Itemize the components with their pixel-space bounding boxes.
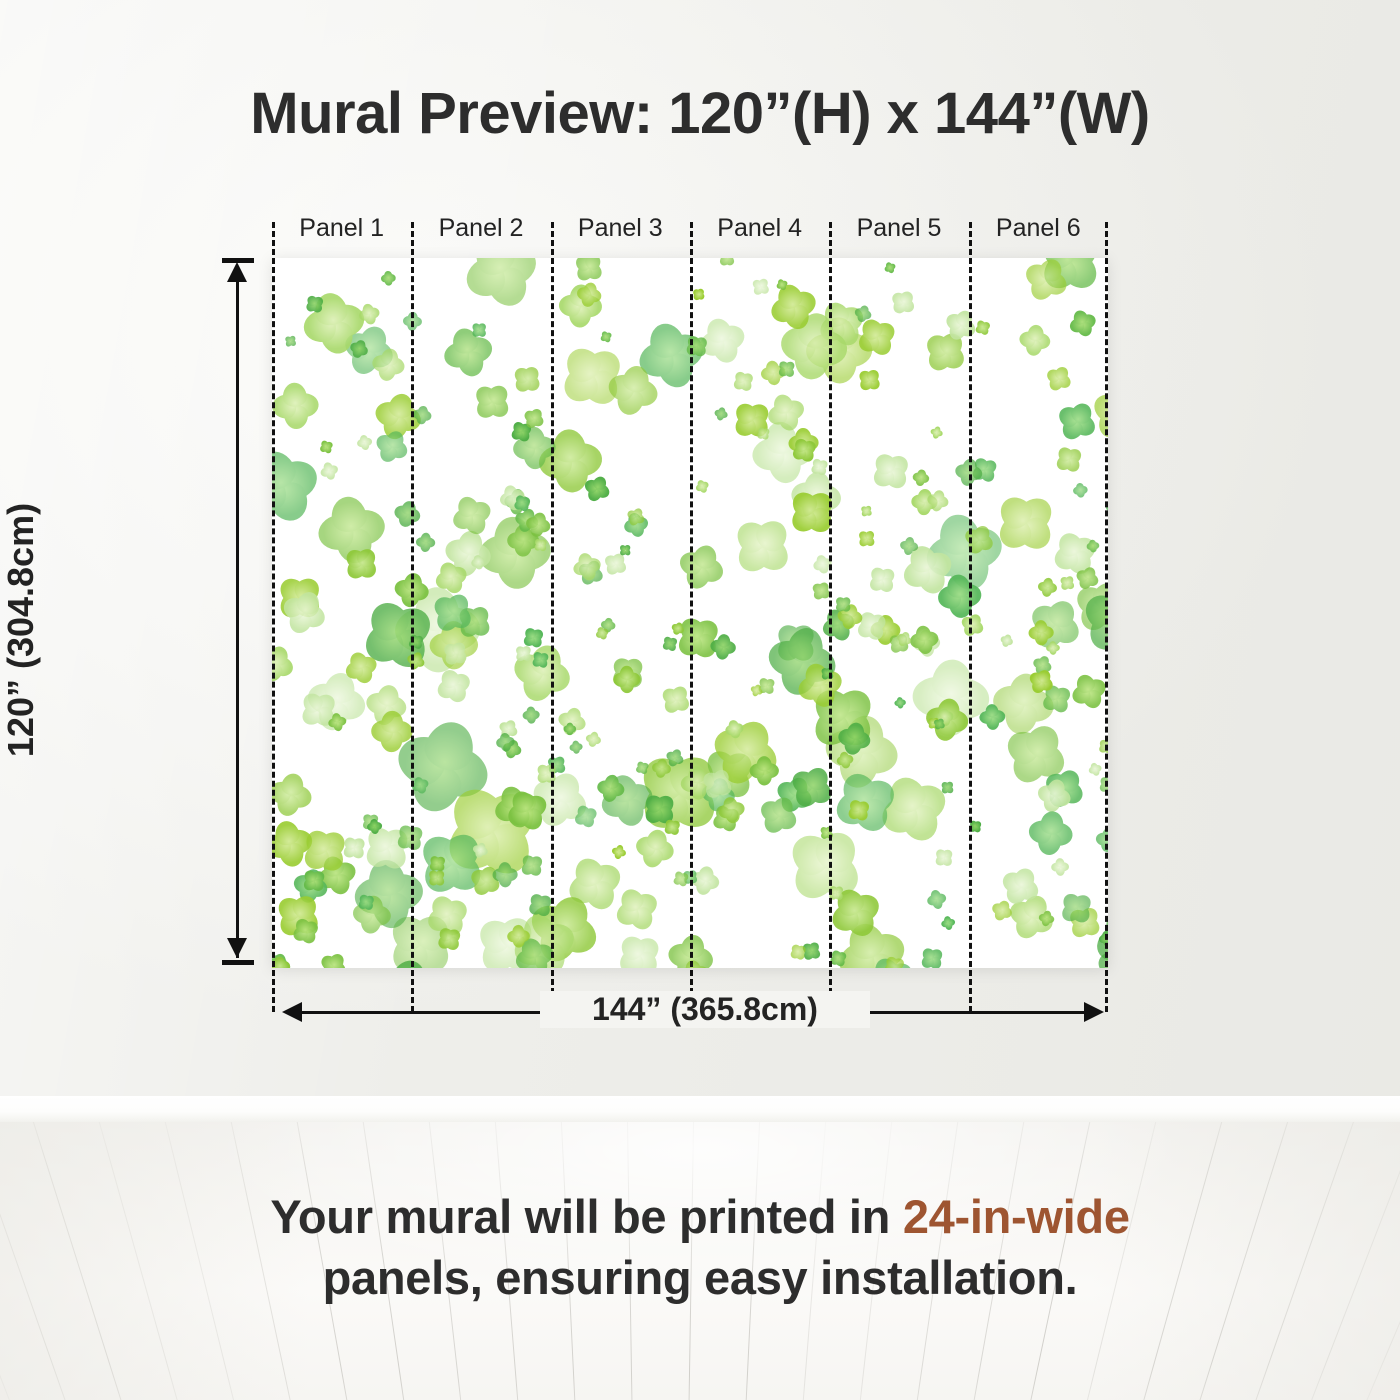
baseboard (0, 1096, 1400, 1123)
clover-motif (535, 762, 558, 785)
clover-motif (663, 817, 683, 837)
clover-motif (412, 528, 440, 556)
panel-divider (411, 222, 414, 1012)
clover-petal (605, 618, 613, 626)
clover-motif (860, 504, 873, 517)
clover-motif (272, 371, 330, 439)
clover-motif (433, 317, 503, 387)
clover-motif (683, 333, 709, 359)
height-arrow-head-bottom (227, 938, 247, 958)
height-dimension-label: 120” (304.8cm) (0, 430, 42, 830)
clover-motif (846, 796, 873, 823)
panel-divider (272, 222, 275, 1012)
width-arrow-head-right (1084, 1002, 1104, 1022)
clover-motif (919, 944, 946, 968)
panel-label-5: Panel 5 (829, 214, 968, 243)
clover-petal (652, 967, 665, 968)
clover-motif (301, 867, 328, 894)
clover-motif (658, 682, 693, 717)
clover-motif (941, 780, 956, 795)
clover-motif (751, 276, 772, 297)
clover-motif (732, 514, 796, 578)
clover-motif (318, 437, 335, 454)
clover-motif (272, 763, 322, 824)
clover-motif (1065, 305, 1102, 342)
clover-motif (934, 847, 955, 868)
clover-petal (383, 270, 392, 279)
clover-petal (1076, 482, 1085, 491)
panel-label-4: Panel 4 (690, 214, 829, 243)
clover-petal (1034, 620, 1047, 633)
panel-label-2: Panel 2 (411, 214, 550, 243)
clover-motif (835, 596, 853, 614)
clover-motif (719, 258, 737, 268)
clover-motif (1019, 801, 1083, 865)
clover-motif (1053, 442, 1086, 475)
clover-motif (442, 639, 471, 668)
clover-motif (776, 358, 797, 379)
clover-motif (583, 728, 605, 750)
height-arrow-line (236, 268, 239, 958)
clover-motif (619, 543, 633, 557)
clover-motif (789, 942, 808, 961)
clover-motif (756, 425, 772, 441)
clover-motif (595, 625, 612, 642)
clover-petal (1050, 640, 1057, 647)
clover-petal (498, 862, 511, 875)
clover-motif (341, 834, 369, 862)
clover-motif (672, 535, 733, 596)
mural-preview-scene: Mural Preview: 120”(H) x 144”(W) Panel 1… (0, 0, 1400, 1400)
clover-motif (427, 853, 447, 873)
width-dimension-label: 144” (365.8cm) (540, 991, 870, 1028)
clover-motif (285, 334, 299, 348)
clover-motif (1013, 317, 1058, 362)
clover-motif (304, 293, 325, 314)
clover-motif (889, 288, 918, 317)
clover-petal (500, 732, 511, 743)
clover-motif (512, 363, 545, 396)
clover-motif (474, 381, 514, 421)
caption-line2: panels, ensuring easy installation. (0, 1247, 1400, 1308)
clover-petal (381, 710, 403, 732)
clover-motif (599, 329, 614, 344)
page-title: Mural Preview: 120”(H) x 144”(W) (0, 80, 1400, 147)
clover-motif (1058, 889, 1095, 926)
clover-motif (568, 737, 587, 756)
clover-motif (713, 405, 732, 424)
clover-petal (418, 405, 429, 416)
clover-motif (866, 563, 899, 596)
clover-motif (357, 892, 377, 912)
clover-motif (731, 368, 756, 393)
clover-motif (289, 914, 322, 947)
clover-petal (600, 967, 625, 968)
panel-divider (829, 222, 832, 1012)
mural-area[interactable]: Panel 1Panel 2Panel 3Panel 4Panel 5Panel… (272, 258, 1108, 968)
clover-motif (393, 821, 426, 854)
clover-motif (820, 665, 835, 680)
caption: Your mural will be printed in 24-in-wide… (0, 1186, 1400, 1308)
clover-motif (317, 950, 349, 968)
clover-motif (272, 639, 302, 689)
clover-motif (694, 477, 712, 495)
clover-motif (436, 925, 464, 953)
clover-petal (370, 818, 379, 827)
clover-motif (1019, 258, 1075, 307)
panel-divider (690, 222, 693, 1012)
panel-label-3: Panel 3 (551, 214, 690, 243)
clover-petal (359, 433, 368, 442)
caption-line1-before: Your mural will be printed in (270, 1190, 903, 1243)
height-tick-bottom (222, 960, 254, 965)
clover-motif (882, 260, 897, 275)
clover-motif (857, 367, 883, 393)
panel-divider (969, 222, 972, 1012)
clover-petal (472, 553, 481, 562)
clover-motif (470, 320, 488, 338)
clover-motif (532, 536, 548, 552)
clover-motif (869, 447, 914, 492)
clover-motif (801, 967, 829, 968)
clover-motif (1059, 574, 1077, 592)
panel-label-6: Panel 6 (969, 214, 1108, 243)
clover-motif (377, 267, 399, 289)
clover-motif (1070, 479, 1091, 500)
clover-motif (938, 912, 958, 932)
clover-motif (958, 610, 988, 640)
clover-motif (923, 886, 950, 913)
clover-motif (530, 649, 551, 670)
clover-motif (453, 258, 551, 318)
panel-divider (1105, 222, 1108, 1012)
panel-divider (551, 222, 554, 1012)
clover-motif (999, 631, 1017, 649)
clover-motif (928, 424, 945, 441)
panel-label-1: Panel 1 (272, 214, 411, 243)
caption-accent: 24-in-wide (903, 1190, 1130, 1243)
clover-motif (1043, 363, 1075, 395)
clover-petal (727, 718, 739, 730)
clover-petal (1055, 857, 1064, 866)
clover-petal (896, 697, 903, 704)
clover-motif (858, 529, 877, 548)
clover-petal (943, 915, 951, 923)
clover-motif (692, 287, 707, 302)
clover-motif (342, 545, 380, 583)
clover-petal (917, 469, 927, 479)
clover-petal (756, 756, 771, 771)
clover-petal (512, 925, 525, 938)
clover-motif (615, 930, 664, 968)
clover-petal (684, 959, 702, 968)
